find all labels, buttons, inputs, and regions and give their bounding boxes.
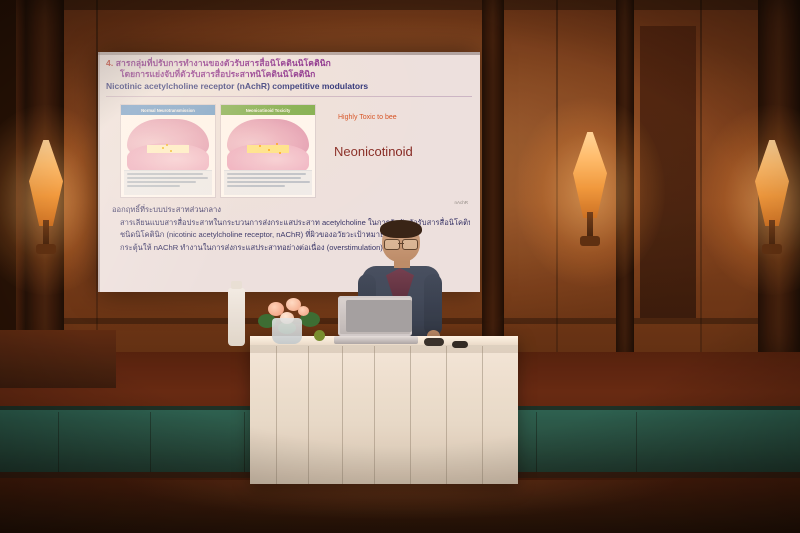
laptop[interactable] (334, 296, 418, 348)
text-line (127, 177, 208, 179)
bottle-cap (231, 281, 242, 289)
table-skirt-fold (276, 346, 277, 484)
wall-cornice (0, 0, 800, 10)
diagram-right-caption: Neonicotinoid Toxicity (221, 105, 315, 115)
flower-bloom (298, 306, 309, 316)
text-line (127, 173, 203, 175)
stage-panel-seam (536, 412, 537, 474)
flower-vase (272, 318, 302, 344)
diagram-neonicotinoid-toxicity: Neonicotinoid Toxicity (220, 104, 316, 198)
wall-sconce-right (742, 140, 800, 260)
sconce-stem (769, 220, 775, 246)
table-skirt-fold (342, 346, 343, 484)
laptop-lid (338, 296, 412, 336)
wall-sconce-center (560, 132, 620, 252)
text-line (127, 185, 180, 187)
stage-panel-seam (636, 412, 637, 474)
sconce-stem (587, 212, 593, 238)
wall-pilaster-center (482, 0, 504, 356)
stage-panel-seam (58, 412, 59, 474)
text-line (127, 181, 196, 183)
presenter-arm-right (424, 274, 442, 336)
wall-sconce-left (16, 140, 76, 260)
table-microphone (424, 338, 444, 346)
slide-title-line-2: โดยการแย่งจับที่ตัวรับสารสื่อประสาทนิโคต… (106, 69, 472, 80)
eyeglass-bridge (398, 243, 404, 244)
table-skirt-fold (308, 346, 309, 484)
diagram-left-caption: Normal Neurotransmission (121, 105, 215, 115)
laptop-screen (346, 300, 412, 332)
slide-diagram: Normal Neurotransmission Neonicotinoid T… (120, 104, 316, 198)
table-microphone-2 (452, 341, 468, 348)
floor-reflection (120, 480, 680, 520)
synaptic-cleft (147, 145, 188, 153)
neonicotinoid-dot (259, 145, 261, 147)
sconce-base (762, 244, 782, 254)
neurotransmitter-dot (170, 150, 172, 152)
presenter-hair (380, 220, 422, 238)
eyeglasses-icon (384, 239, 418, 248)
neonicotinoid-dot (276, 143, 278, 145)
slide-compound-class: Neonicotinoid (334, 144, 413, 159)
eyeglass-lens-right (402, 239, 418, 250)
slide-title-line-1-text: สารกลุ่มที่ปรับการทำงานของตัวรับสารสื่อน… (116, 58, 331, 68)
slide-toxicity-note: Highly Toxic to bee (338, 114, 397, 121)
slide-title-block: 4. สารกลุ่มที่ปรับการทำงานของตัวรับสารสื… (106, 58, 472, 92)
table-skirt-fold (446, 346, 447, 484)
stage-panel-seam (150, 412, 151, 474)
text-line (227, 177, 301, 179)
skirted-presentation-table (250, 336, 518, 484)
green-object-on-table (314, 330, 325, 341)
water-bottle (228, 288, 245, 346)
neonicotinoid-dot (268, 149, 270, 151)
laptop-keyboard-base[interactable] (334, 336, 418, 344)
screen-frame-top (98, 52, 480, 55)
diagram-right-textblock (224, 170, 312, 195)
slide-title-line-3: Nicotinic acetylcholine receptor (nAchR)… (106, 81, 472, 92)
text-line (227, 181, 310, 183)
table-skirt-fold (374, 346, 375, 484)
sconce-stem (43, 220, 49, 246)
slide-title-line-1: 4. สารกลุ่มที่ปรับการทำงานของตัวรับสารสื… (106, 58, 472, 69)
wall-base-cabinet (0, 330, 116, 388)
screen-frame-left (98, 52, 100, 292)
diagram-normal-transmission: Normal Neurotransmission (120, 104, 216, 198)
slide-title-number: 4. (106, 58, 113, 68)
eyeglass-lens-left (384, 239, 400, 250)
sconce-base (580, 236, 600, 246)
text-line (227, 173, 306, 175)
stage-panel-seam (244, 412, 245, 474)
sconce-base (36, 244, 56, 254)
slide-bullet: ออกฤทธิ์ที่ระบบประสาทส่วนกลาง (112, 204, 470, 217)
conference-room-photo: 4. สารกลุ่มที่ปรับการทำงานของตัวรับสารสื… (0, 0, 800, 533)
table-skirt-fold (482, 346, 483, 484)
text-line (227, 185, 285, 187)
diagram-left-textblock (124, 170, 212, 195)
slide-title-divider (106, 96, 472, 97)
table-skirt-fold (410, 346, 411, 484)
